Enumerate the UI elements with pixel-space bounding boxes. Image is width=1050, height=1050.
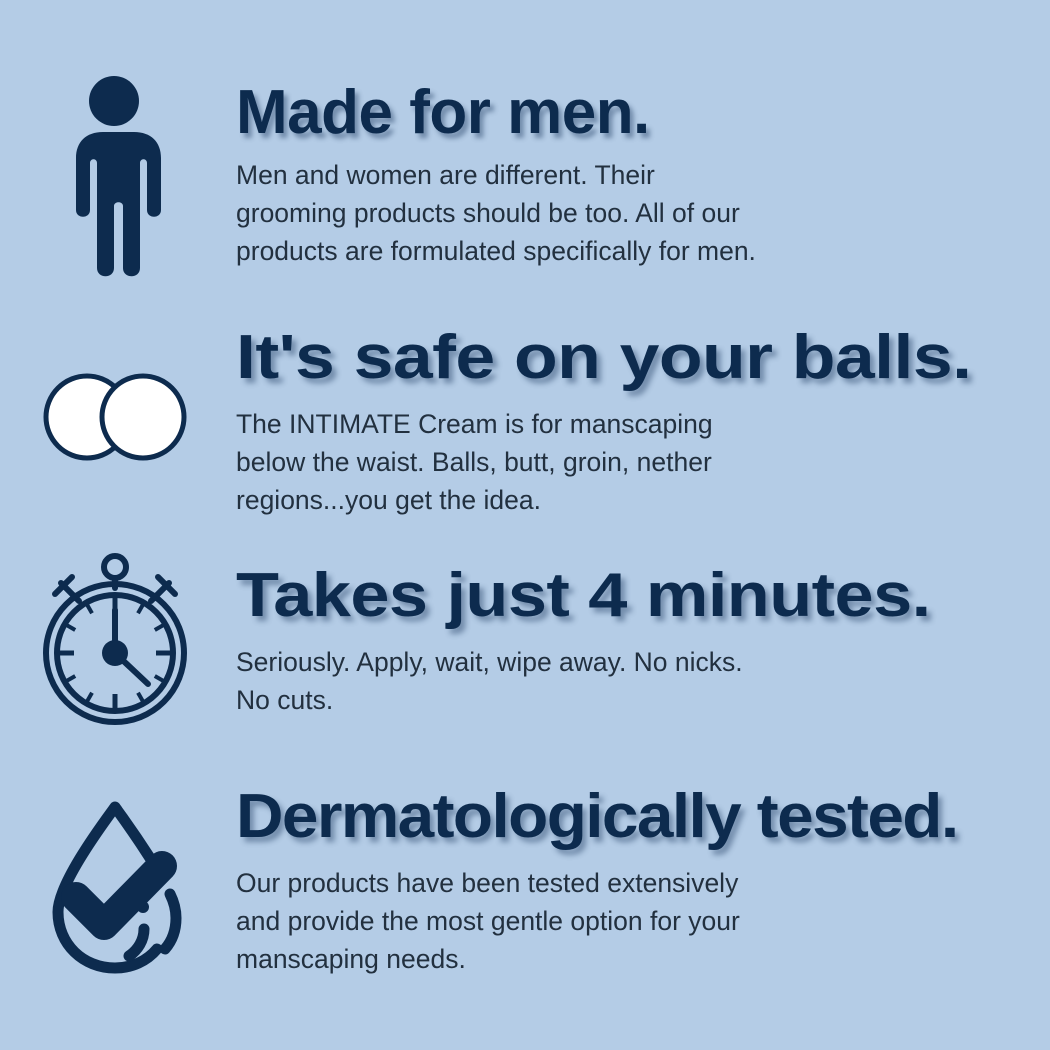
feature-headline: It's safe on your balls. [236, 327, 1050, 389]
feature-body: Seriously. Apply, wait, wipe away. No ni… [236, 643, 1050, 719]
stopwatch-icon [31, 550, 199, 726]
feature-headline: Takes just 4 minutes. [236, 565, 1050, 627]
feature-icon-cell [0, 792, 230, 982]
two-overlapping-circles-icon [35, 371, 195, 463]
feature-text-cell: Made for men. Men and women are differen… [236, 82, 1050, 270]
feature-icon-cell [0, 72, 230, 282]
standing-person-icon [59, 75, 171, 280]
feature-text-cell: Takes just 4 minutes. Seriously. Apply, … [236, 565, 1050, 719]
feature-body: Men and women are different. Their groom… [236, 156, 1050, 270]
feature-headline: Dermatologically tested. [236, 786, 1050, 848]
feature-text-cell: It's safe on your balls. The INTIMATE Cr… [236, 327, 1050, 519]
features-infographic: Made for men. Men and women are differen… [0, 0, 1050, 1050]
feature-text-cell: Dermatologically tested. Our products ha… [236, 786, 1050, 978]
feature-icon-cell [0, 545, 230, 730]
feature-body: The INTIMATE Cream is for manscaping bel… [236, 405, 1050, 519]
feature-body: Our products have been tested extensivel… [236, 864, 1050, 978]
water-droplet-checkmark-icon [40, 794, 190, 980]
feature-icon-cell [0, 357, 230, 477]
feature-headline: Made for men. [236, 82, 1050, 144]
